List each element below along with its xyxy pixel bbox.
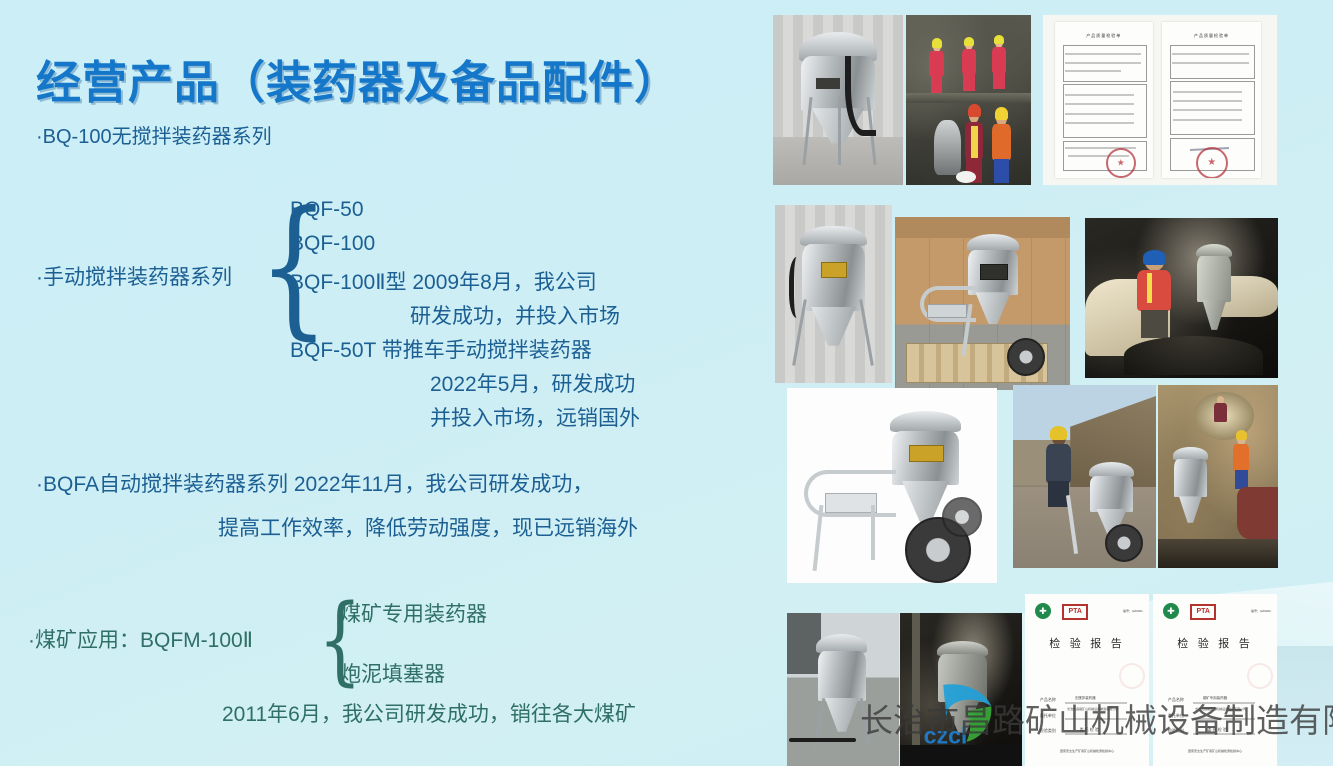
photo-night-site-vessel: [900, 613, 1022, 766]
certificate-page-a: 产品质量检验单 ★: [1055, 22, 1153, 178]
slide-root: 经营产品（装药器及备品配件） ·BQ-100无搅拌装药器系列 ·手动搅拌装药器系…: [0, 0, 1333, 766]
manual-item-3: BQF-100Ⅱ型 2009年8月，我公司: [290, 266, 597, 296]
report-value-2-1: 煤矿专用装药器: [1203, 696, 1228, 701]
report-watermark-stamp-2: [1247, 663, 1273, 689]
photo-inspection-report-2: ✚ PTA 编号：GZ0002 检 验 报 告 产品名称 煤矿专用装药器 委托单…: [1153, 594, 1277, 766]
section-bq100-label: ·BQ-100无搅拌装药器系列: [36, 120, 272, 149]
report-watermark-stamp-1: [1119, 663, 1145, 689]
photo-charging-device-indoor: [773, 15, 903, 185]
certificate-title-a: 产品质量检验单: [1055, 33, 1153, 39]
section-manual-label: ·手动搅拌装药器系列: [36, 261, 232, 291]
photo-mine-site-workers: [906, 15, 1031, 185]
photo-inspection-report-1: ✚ PTA 编号：GZ0001 检 验 报 告 产品名称 无搅拌装药器 委托单位…: [1025, 594, 1149, 766]
ma-certification-logo-2: ✚: [1163, 603, 1179, 619]
section-bqfa-line1: ·BQFA自动搅拌装药器系列 2022年11月，我公司研发成功，: [36, 468, 593, 498]
text-column: 经营产品（装药器及备品配件） ·BQ-100无搅拌装药器系列 ·手动搅拌装药器系…: [0, 0, 765, 766]
report-title-1: 检 验 报 告: [1025, 635, 1149, 651]
manual-item-6: 2022年5月，研发成功: [430, 368, 635, 398]
report-field-1-1: 产品名称: [1040, 697, 1056, 703]
photo-wheelbarrow-device: [787, 388, 997, 583]
photo-mixing-vessel: [775, 205, 892, 383]
report-footer-2: 国家安全生产矿用矿山机械检测检验中心: [1153, 749, 1277, 753]
photo-tunnel-operation: [1158, 385, 1278, 568]
photo-underground-operator: [1085, 218, 1278, 378]
report-value-1-2: 长治市昌路矿山机械设备制造有限公司: [1067, 707, 1118, 711]
pta-certification-logo-2: PTA: [1190, 604, 1216, 620]
report-field-2-2: 委托单位: [1168, 713, 1184, 719]
section-coal-label: ·煤矿应用：BQFM-100Ⅱ: [28, 624, 253, 654]
pta-certification-logo-1: PTA: [1062, 604, 1088, 620]
manual-item-7: 并投入市场，远销国外: [430, 402, 640, 432]
manual-item-5: BQF-50T 带推车手动搅拌装药器: [290, 334, 592, 364]
manual-item-4: 研发成功，并投入市场: [410, 300, 620, 330]
report-footer-1: 国家安全生产矿用矿山机械检测检验中心: [1025, 749, 1149, 753]
report-field-2-1: 产品名称: [1168, 697, 1184, 703]
report-field-1-2: 委托单位: [1040, 713, 1056, 719]
report-title-2: 检 验 报 告: [1153, 635, 1277, 651]
report-field-2-3: 检验类别: [1168, 728, 1184, 734]
official-stamp-a: ★: [1106, 148, 1136, 178]
ma-certification-logo-1: ✚: [1035, 603, 1051, 619]
coal-item-1: 煤矿专用装药器: [340, 598, 487, 628]
coal-footer: 2011年6月，我公司研发成功，销往各大煤矿: [222, 698, 636, 728]
official-stamp-b: ★: [1196, 147, 1228, 178]
photo-workshop-vessel: [787, 613, 899, 766]
photo-cart-device-pallet: [895, 217, 1070, 390]
report-value-1-3: 委 托 检 验: [1080, 727, 1099, 733]
coal-item-2: 炮泥填塞器: [340, 658, 445, 688]
certificate-title-b: 产品质量检验单: [1162, 33, 1260, 39]
photo-certificate-pair: 产品质量检验单 ★: [1043, 15, 1277, 185]
page-title: 经营产品（装药器及备品配件）: [36, 46, 680, 111]
photo-outdoor-transport: [1013, 385, 1156, 568]
manual-item-1: BQF-50: [290, 198, 364, 222]
manual-item-2: BQF-100: [290, 232, 375, 256]
section-bqfa-line2: 提高工作效率，降低劳动强度，现已远销海外: [218, 512, 638, 542]
report-value-1-1: 无搅拌装药器: [1075, 696, 1096, 701]
photo-gallery: 产品质量检验单 ★: [765, 0, 1333, 766]
report-field-1-3: 检验类别: [1040, 728, 1056, 734]
certificate-page-b: 产品质量检验单 ★: [1162, 22, 1260, 178]
report-value-2-2: 长治市昌路矿山机械设备制造有限公司: [1195, 707, 1246, 711]
report-value-2-3: 委 托 检 验: [1208, 727, 1227, 733]
